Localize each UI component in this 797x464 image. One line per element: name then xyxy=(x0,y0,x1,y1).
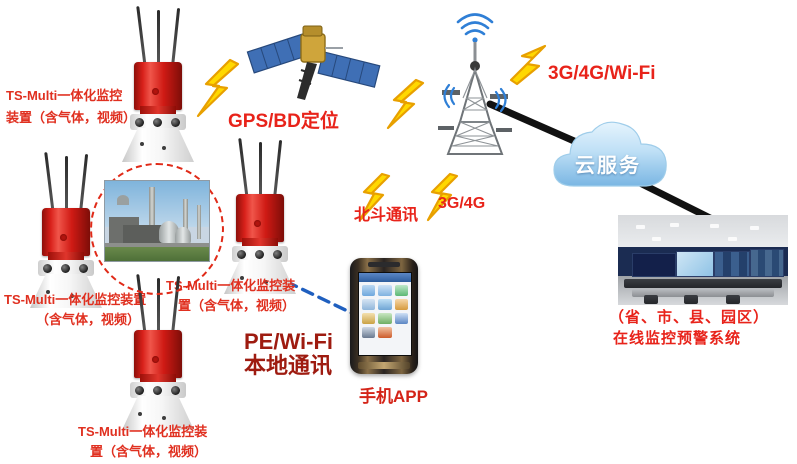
camera-lens-icon xyxy=(43,264,52,273)
app-icon[interactable] xyxy=(378,299,391,310)
app-icon[interactable] xyxy=(378,327,391,338)
device-port xyxy=(138,412,142,416)
satellite-icon xyxy=(243,4,383,104)
photo-ground xyxy=(105,245,209,261)
device-body xyxy=(134,62,182,110)
camera-lens-icon xyxy=(135,118,144,127)
device-body xyxy=(42,208,90,256)
wall-screen-cctv xyxy=(714,251,750,277)
mobile-app-label: 手机APP xyxy=(359,386,428,407)
device-center xyxy=(212,138,308,270)
industrial-plant-photo xyxy=(104,180,210,262)
antenna-icon xyxy=(136,6,147,68)
ceiling-light xyxy=(710,224,719,228)
app-icon[interactable] xyxy=(395,299,408,310)
app-icon[interactable] xyxy=(378,285,391,296)
camera-lens-icon xyxy=(237,250,246,259)
device-port xyxy=(140,142,144,146)
plant-unit xyxy=(117,195,129,205)
ceiling-light xyxy=(636,225,645,229)
antenna-icon xyxy=(171,8,180,68)
ceiling-light xyxy=(728,237,737,241)
cell-tower-icon xyxy=(430,12,520,158)
app-icon[interactable] xyxy=(362,299,375,310)
ceiling-light xyxy=(750,226,759,230)
status-bar xyxy=(359,273,411,282)
antenna-icon xyxy=(273,140,282,200)
operator-chair xyxy=(684,295,698,304)
diagram-canvas: 云服务 TS-Multi一体化监控 装置（含气体，视频） TS-Multi一体化… xyxy=(0,0,797,464)
operator-chair xyxy=(726,295,740,304)
device-body xyxy=(134,330,182,378)
operator-desk xyxy=(624,279,782,288)
antenna-icon xyxy=(259,142,262,200)
app-icon xyxy=(395,327,408,338)
camera-lens-icon xyxy=(61,264,70,273)
link-label-gps-bd: GPS/BD定位 xyxy=(228,110,339,134)
control-center-label-line1: （省、市、县、园区） xyxy=(609,309,769,328)
link-label-beidou: 北斗通讯 xyxy=(354,206,418,226)
antenna-icon xyxy=(238,138,249,200)
antenna-icon xyxy=(157,10,160,68)
antenna-icon xyxy=(65,156,68,214)
app-icon[interactable] xyxy=(362,313,375,324)
control-room-photo xyxy=(618,215,788,305)
ceiling-light xyxy=(652,237,661,241)
app-icon-grid xyxy=(362,285,408,338)
antenna-icon xyxy=(79,154,88,214)
app-icon[interactable] xyxy=(395,313,408,324)
operator-chair xyxy=(644,295,658,304)
device-bottom-bar xyxy=(358,362,410,369)
wall-screen-map xyxy=(676,251,714,277)
app-icon[interactable] xyxy=(362,327,375,338)
device-screen xyxy=(358,272,412,356)
device-port xyxy=(162,146,166,150)
camera-lens-icon xyxy=(135,386,144,395)
link-label-3g4g-wifi: 3G/4G/Wi-Fi xyxy=(548,62,656,86)
speaker-grill xyxy=(368,262,400,267)
camera-lens-icon xyxy=(79,264,88,273)
local-link-label-line2: 本地通讯 xyxy=(244,352,332,380)
wall-screen-cctv xyxy=(750,249,784,277)
camera-lens-icon xyxy=(273,250,282,259)
ceiling-light xyxy=(670,223,679,227)
device-top-left-label-line1: TS-Multi一体化监控 xyxy=(6,88,122,104)
app-icon[interactable] xyxy=(378,313,391,324)
plant-stack xyxy=(197,205,201,239)
device-top-left-label-line2: 装置（含气体，视频） xyxy=(6,110,136,126)
antenna-icon xyxy=(44,152,55,214)
control-room-ceiling xyxy=(618,215,788,251)
plant-pipe-rack xyxy=(105,243,209,247)
bolt-satellite-tower-icon xyxy=(378,78,430,132)
device-bottom-left-label-line2: 置（含气体，视频） xyxy=(90,444,207,460)
camera-lens-icon xyxy=(153,118,162,127)
device-port xyxy=(162,416,166,420)
link-label-3g4g: 3G/4G xyxy=(438,194,485,214)
wall-screen xyxy=(632,253,676,277)
camera-lens-icon xyxy=(153,386,162,395)
camera-lens-icon xyxy=(171,118,180,127)
device-base xyxy=(122,128,194,162)
cloud-label: 云服务 xyxy=(575,149,641,178)
device-body xyxy=(236,194,284,242)
app-icon[interactable] xyxy=(362,285,375,296)
camera-lens-icon xyxy=(171,386,180,395)
device-bottom-left-label-line1: TS-Multi一体化监控装 xyxy=(78,424,207,440)
mobile-app-device[interactable] xyxy=(350,258,418,374)
camera-lens-icon xyxy=(255,250,264,259)
app-icon[interactable] xyxy=(395,285,408,296)
control-center-label-line2: 在线监控预警系统 xyxy=(613,330,741,349)
